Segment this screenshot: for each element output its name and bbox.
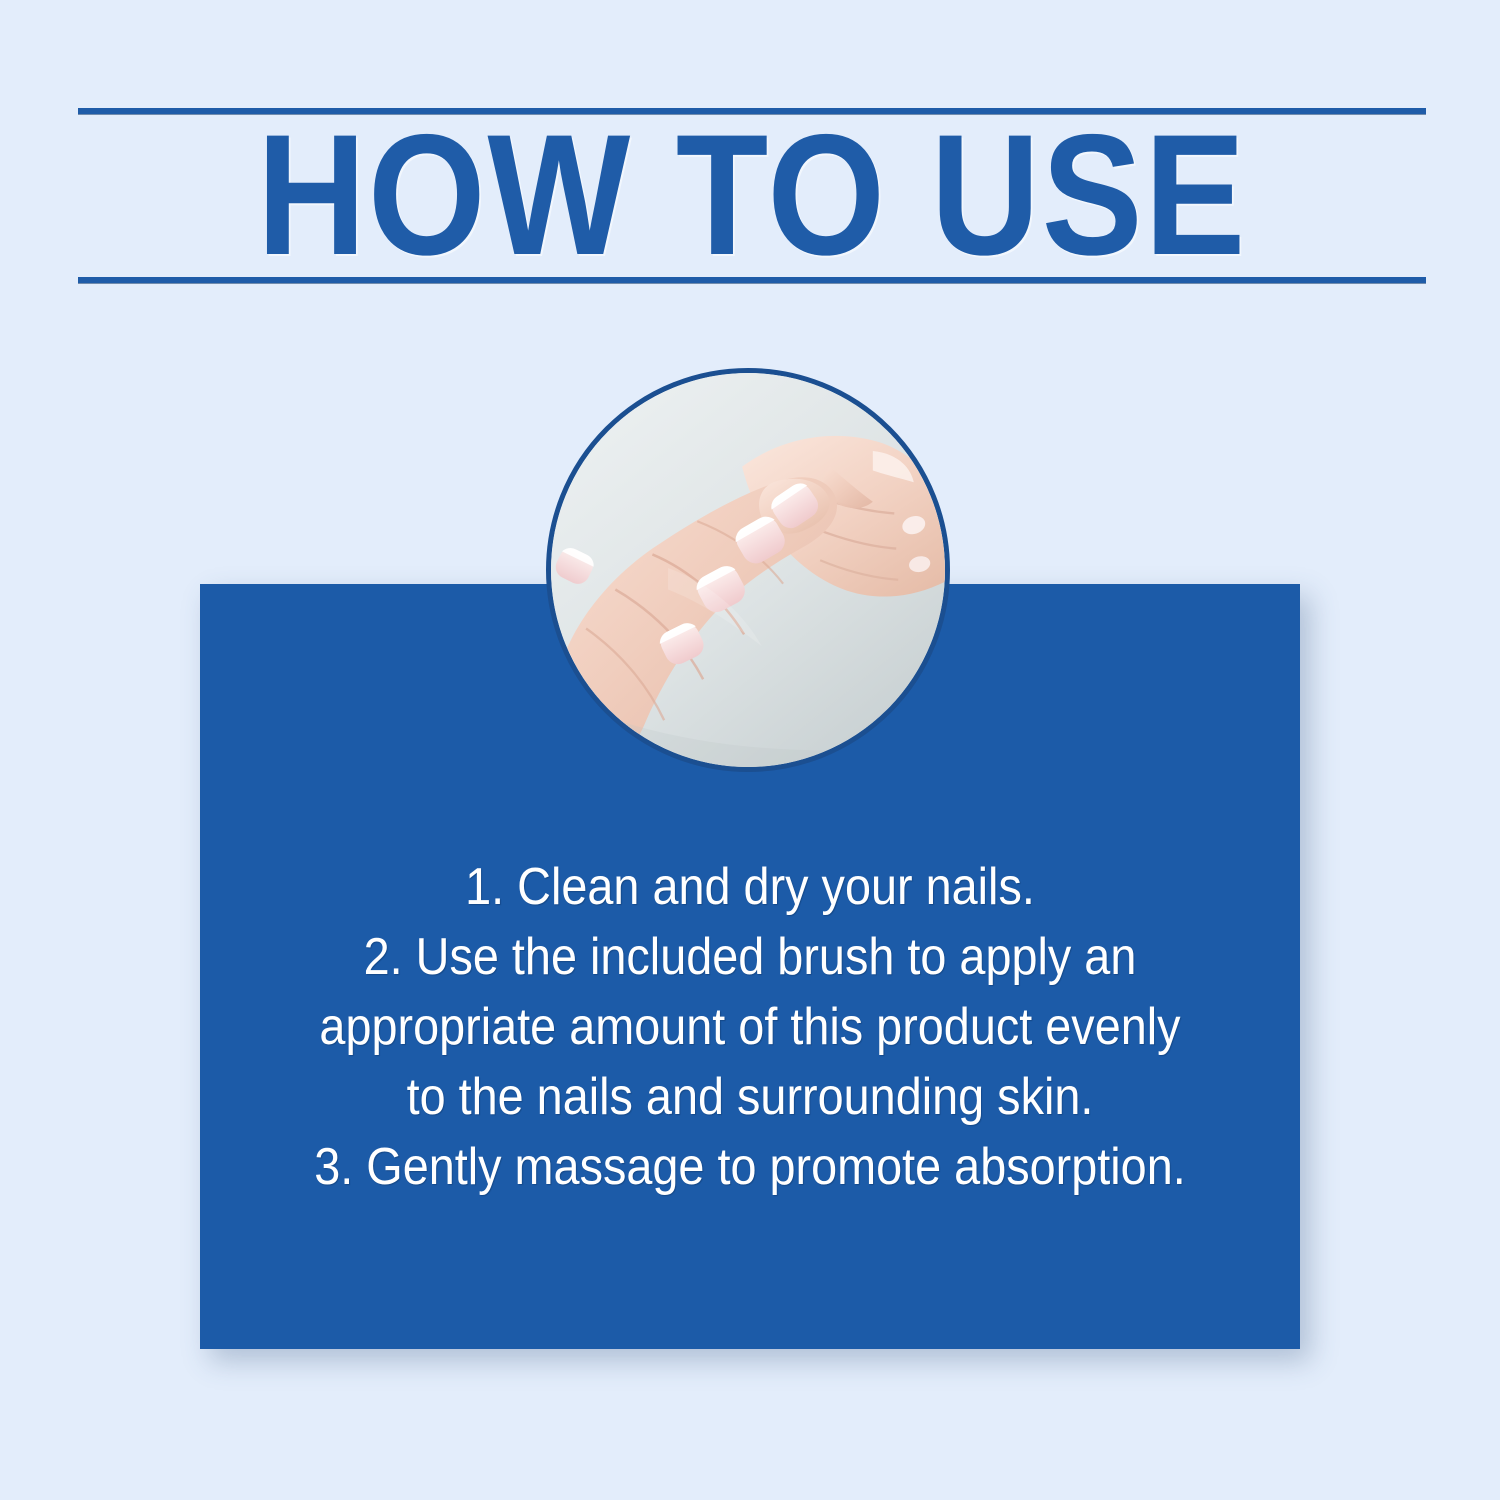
instruction-step: 3. Gently massage to promote absorption. <box>255 1132 1245 1202</box>
header-bottom-rule <box>78 277 1426 283</box>
hands-photo-inner <box>551 373 945 767</box>
how-to-use-poster: HOW TO USE 1. Clean and dry your nails. … <box>0 0 1500 1500</box>
instruction-step: to the nails and surrounding skin. <box>255 1062 1245 1132</box>
instruction-step: appropriate amount of this product evenl… <box>255 992 1245 1062</box>
instruction-step: 1. Clean and dry your nails. <box>255 852 1245 922</box>
instruction-step: 2. Use the included brush to apply an <box>255 922 1245 992</box>
hands-illustration-icon <box>551 373 945 767</box>
instruction-list: 1. Clean and dry your nails. 2. Use the … <box>200 852 1300 1202</box>
header-block: HOW TO USE <box>78 108 1426 283</box>
page-title: HOW TO USE <box>159 114 1345 277</box>
hands-photo-circle <box>546 368 950 772</box>
